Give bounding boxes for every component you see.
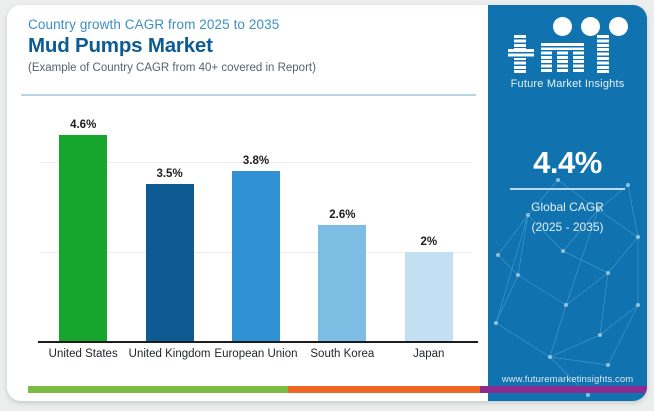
header: Country growth CAGR from 2025 to 2035 Mu… — [28, 17, 468, 74]
header-subtitle: Country growth CAGR from 2025 to 2035 — [28, 17, 468, 32]
infographic-card: Country growth CAGR from 2025 to 2035 Mu… — [7, 5, 647, 401]
bar-label-united-states: 4.6% — [70, 119, 96, 131]
global-cagr-period: (2025 - 2035) — [488, 217, 647, 237]
stripe-orange — [288, 386, 480, 393]
bar-united-states — [59, 135, 107, 341]
bar-column-japan: 2% — [386, 109, 472, 341]
screenshot-root: Country growth CAGR from 2025 to 2035 Mu… — [0, 0, 654, 411]
bar-united-kingdom — [146, 184, 194, 341]
accent-stripe — [28, 386, 647, 393]
letter-i — [597, 35, 609, 73]
global-cagr-caption: Global CAGR (2025 - 2035) — [488, 197, 647, 237]
global-cagr-label: Global CAGR — [488, 197, 647, 217]
x-label-south-korea: South Korea — [299, 347, 385, 361]
chart-panel: Country growth CAGR from 2025 to 2035 Mu… — [7, 5, 488, 401]
fmi-logo: Future Market Insights — [488, 17, 647, 90]
bar-chart-plot: 4.6% 3.5% 3.8% 2.6% — [40, 109, 472, 341]
bar-column-south-korea: 2.6% — [299, 109, 385, 341]
bar-label-united-kingdom: 3.5% — [156, 168, 182, 180]
letter-f-bar — [508, 49, 534, 58]
header-caption: (Example of Country CAGR from 40+ covere… — [28, 62, 468, 74]
bar-south-korea — [318, 225, 366, 341]
x-axis-line — [38, 341, 478, 343]
x-label-united-states: United States — [40, 347, 126, 361]
x-axis-labels: United States United Kingdom European Un… — [40, 347, 472, 361]
bar-group: 4.6% 3.5% 3.8% 2.6% — [40, 109, 472, 341]
sidebar-divider — [510, 188, 625, 190]
bar-european-union — [232, 171, 280, 341]
bar-column-united-kingdom: 3.5% — [127, 109, 213, 341]
bar-label-european-union: 3.8% — [243, 155, 269, 167]
bar-label-japan: 2% — [420, 236, 437, 248]
fmi-wordmark — [504, 33, 632, 75]
stripe-green — [28, 386, 288, 393]
brand-sidebar: Future Market Insights 4.4% Global CAGR … — [488, 5, 647, 401]
global-cagr-value: 4.4% — [488, 145, 647, 181]
letter-m-left — [541, 47, 552, 73]
bar-column-united-states: 4.6% — [40, 109, 126, 341]
letter-m-top — [541, 43, 584, 50]
header-divider — [21, 94, 476, 96]
letter-m-mid — [557, 47, 568, 73]
x-label-japan: Japan — [386, 347, 472, 361]
website-url: www.futuremarketinsights.com — [488, 374, 647, 385]
bar-japan — [405, 252, 453, 341]
x-label-european-union: European Union — [213, 347, 299, 361]
bar-column-european-union: 3.8% — [213, 109, 299, 341]
x-label-united-kingdom: United Kingdom — [127, 347, 213, 361]
stripe-purple — [480, 386, 647, 393]
logo-tagline: Future Market Insights — [488, 78, 647, 90]
page-title: Mud Pumps Market — [28, 34, 468, 58]
bar-label-south-korea: 2.6% — [329, 209, 355, 221]
letter-m-right — [573, 47, 584, 73]
